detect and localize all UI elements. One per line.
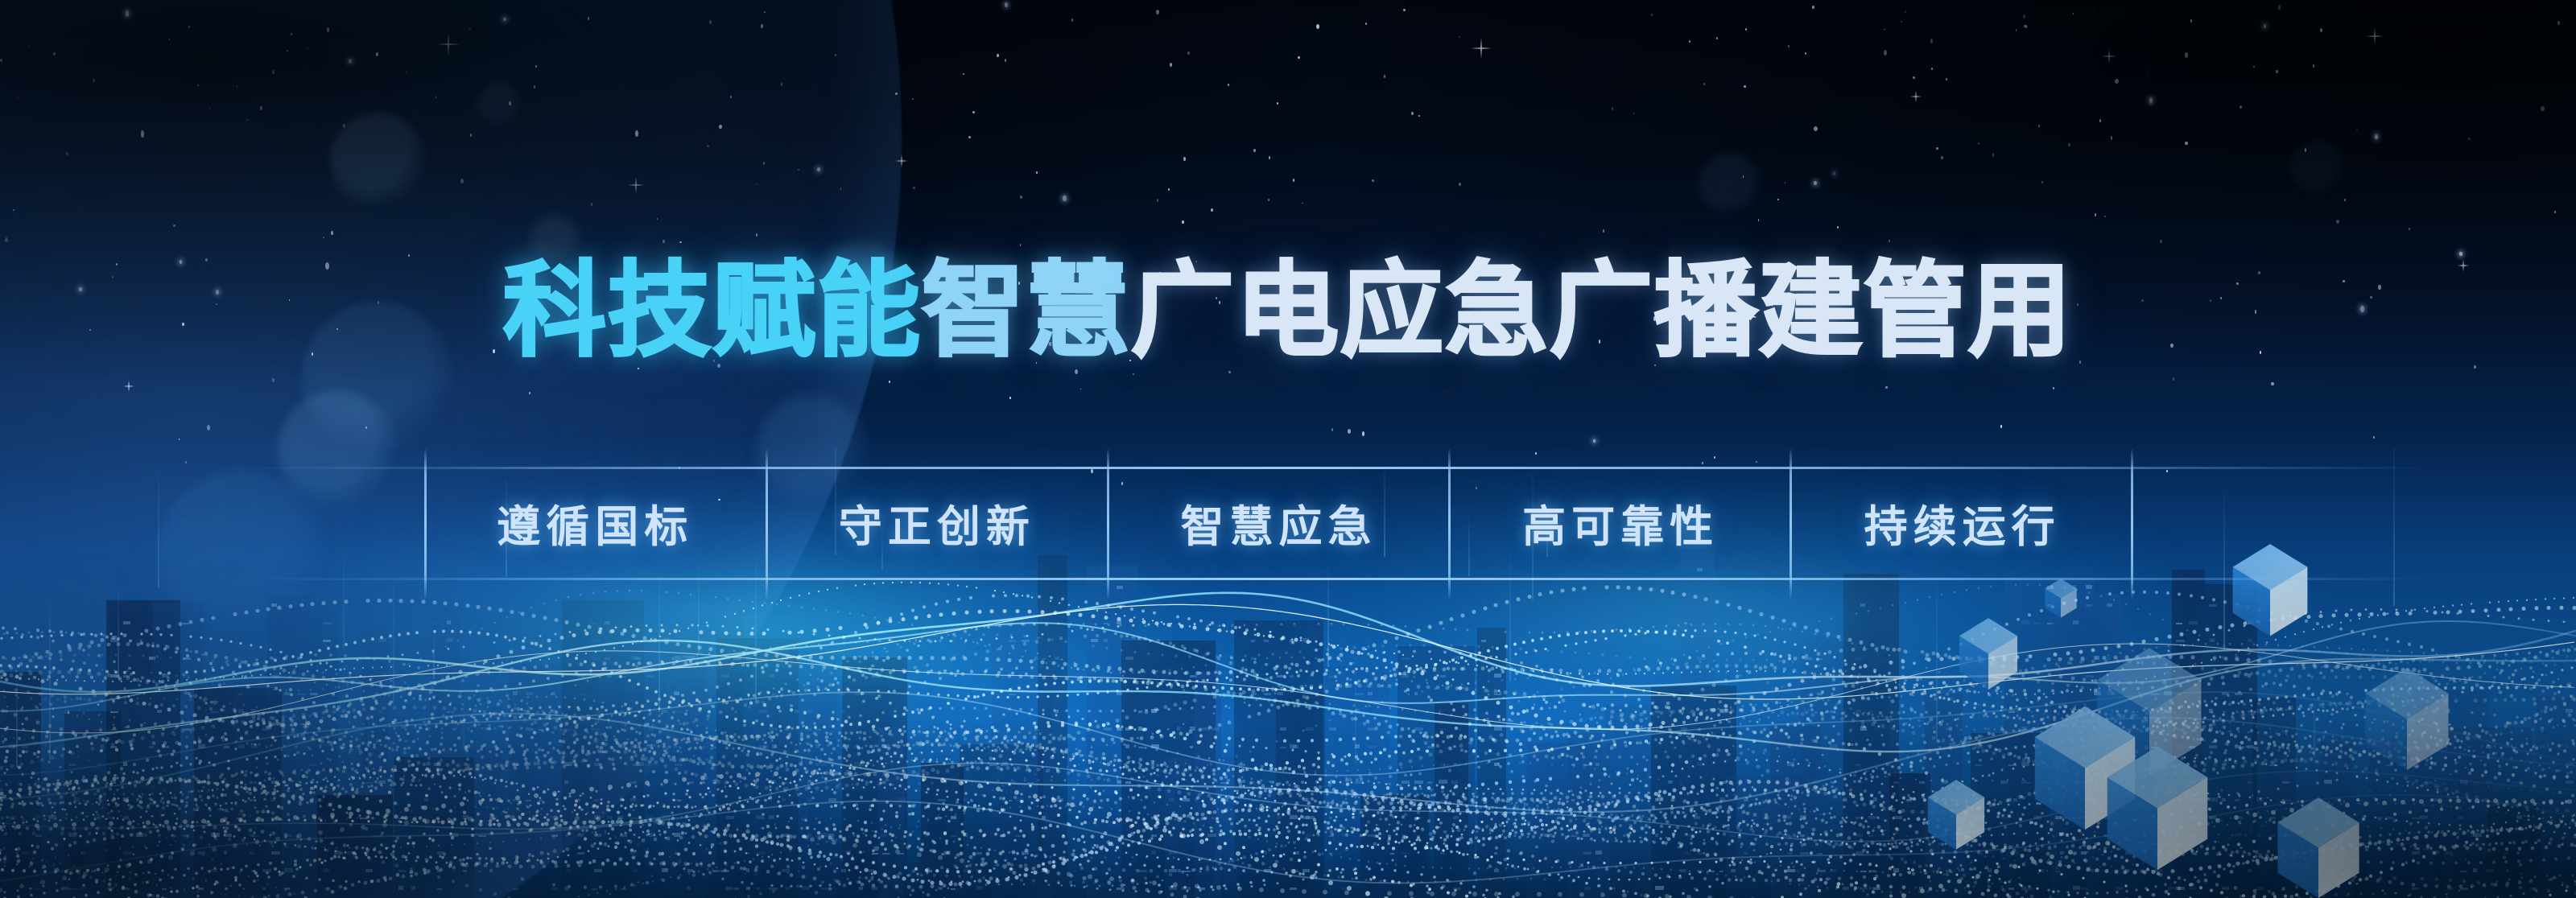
feature-label-4: 持续运行 xyxy=(1864,491,2061,554)
feature-bar-bottom-rule xyxy=(242,578,2431,580)
banner-title: 科技赋能智慧广电应急广播建管用 xyxy=(0,256,2576,367)
feature-label-2: 智慧应急 xyxy=(1180,491,1377,554)
feature-item-4[interactable]: 持续运行 xyxy=(1791,467,2133,578)
feature-bar: 遵循国标 守正创新 智慧应急 高可靠性 持续运行 xyxy=(0,467,2576,584)
feature-label-0: 遵循国标 xyxy=(497,491,693,554)
title-segment-cyan: 科技赋能 xyxy=(503,256,922,367)
vignette-overlay xyxy=(0,0,2576,898)
feature-item-0[interactable]: 遵循国标 xyxy=(424,467,766,578)
feature-list: 遵循国标 守正创新 智慧应急 高可靠性 持续运行 xyxy=(424,467,2133,578)
title-segment-mid: 智慧 xyxy=(922,256,1131,367)
feature-item-3[interactable]: 高可靠性 xyxy=(1450,467,1792,578)
feature-label-3: 高可靠性 xyxy=(1522,491,1719,554)
promotional-banner: 科技赋能智慧广电应急广播建管用 遵循国标 守正创新 智慧应急 高可靠性 持续运行 xyxy=(0,0,2576,898)
feature-item-2[interactable]: 智慧应急 xyxy=(1108,467,1450,578)
feature-item-1[interactable]: 守正创新 xyxy=(766,467,1108,578)
feature-label-1: 守正创新 xyxy=(839,491,1035,554)
title-segment-white: 广电应急广播建管用 xyxy=(1131,256,2073,367)
